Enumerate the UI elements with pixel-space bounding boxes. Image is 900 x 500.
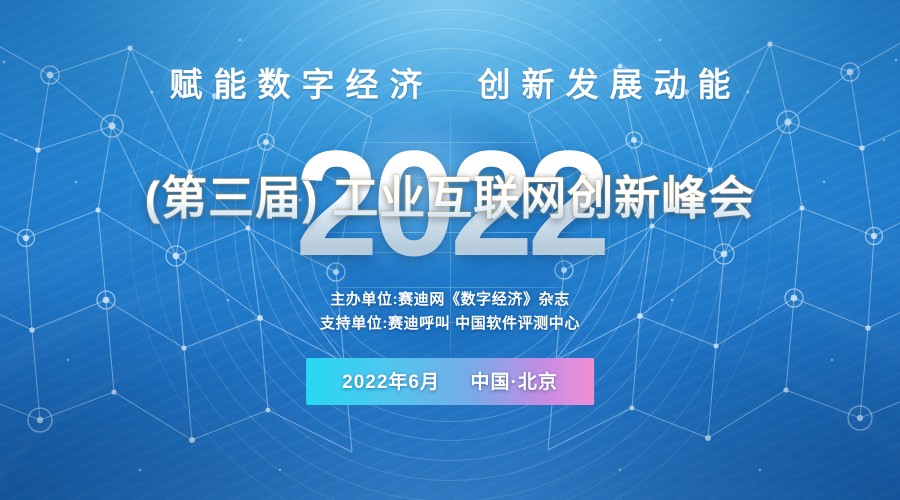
poster-tagline: 赋能数字经济 创新发展动能: [0, 58, 900, 106]
organizer-block: 主办单位:赛迪网《数字经济》杂志 支持单位:赛迪呼叫 中国软件评测中心: [0, 288, 900, 336]
poster-content: 赋能数字经济 创新发展动能 2022 (第三届) 工业互联网创新峰会 主办单位:…: [0, 0, 900, 500]
poster-main-title: (第三届) 工业互联网创新峰会: [0, 172, 900, 225]
date-location-badge-inner: 2022年6月 中国·北京: [308, 360, 592, 403]
organizer-host-line: 主办单位:赛迪网《数字经济》杂志: [0, 288, 900, 312]
event-location: 中国·北京: [471, 372, 558, 393]
event-date: 2022年6月: [342, 372, 440, 393]
organizer-support-line: 支持单位:赛迪呼叫 中国软件评测中心: [0, 312, 900, 336]
date-location-badge: 2022年6月 中国·北京: [306, 358, 594, 405]
conference-poster: 赋能数字经济 创新发展动能 2022 (第三届) 工业互联网创新峰会 主办单位:…: [0, 0, 900, 500]
